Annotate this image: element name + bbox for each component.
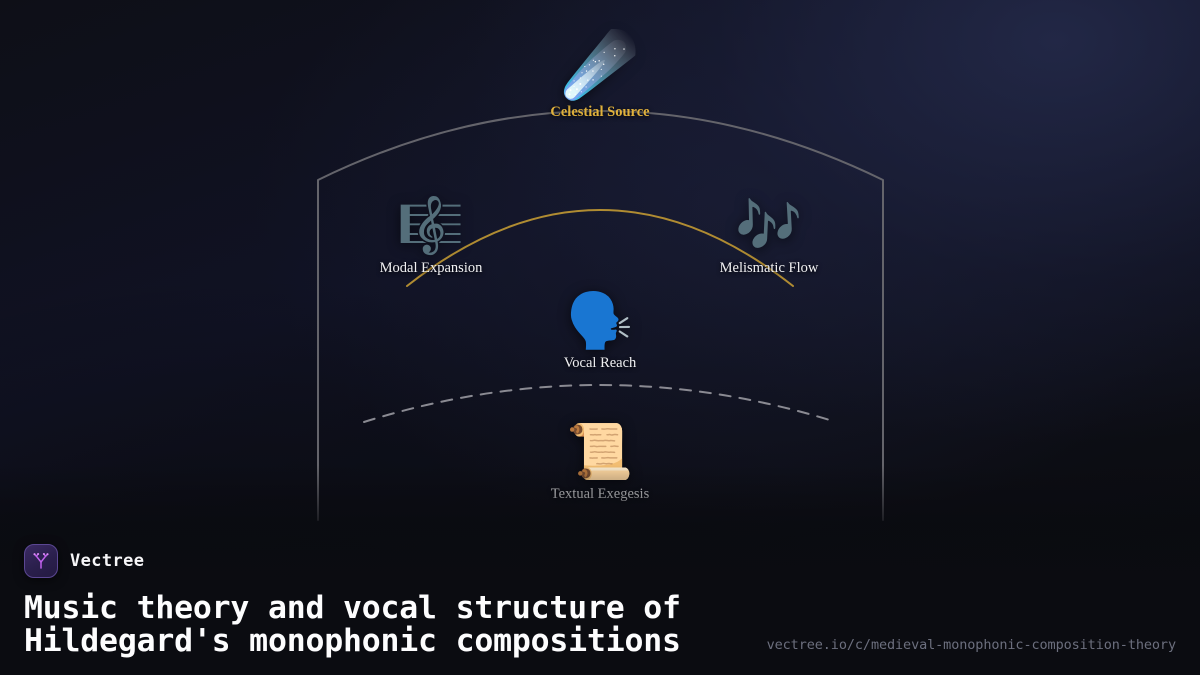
musical-score-icon: 🎼 <box>397 199 464 253</box>
share-card-canvas: ☄️ Celestial Source 🎼 Modal Expansion 🎶 … <box>0 0 1200 675</box>
vectree-tree-logo-icon <box>24 544 58 578</box>
graph-node-label: Textual Exegesis <box>551 486 649 503</box>
footer: Vectree Music theory and vocal structure… <box>24 544 1176 657</box>
graph-node-celestial-source[interactable]: ☄️ Celestial Source <box>550 35 649 121</box>
speaking-head-icon: 🗣️ <box>566 294 633 348</box>
musical-notes-icon: 🎶 <box>735 199 802 253</box>
graph-node-label: Vocal Reach <box>564 355 637 372</box>
graph-node-label: Celestial Source <box>550 104 649 121</box>
graph-node-vocal-reach[interactable]: 🗣️ Vocal Reach <box>564 294 637 372</box>
edge-dashed-arc <box>364 385 836 422</box>
scroll-icon: 📜 <box>566 425 633 479</box>
graph-node-label: Melismatic Flow <box>720 260 819 277</box>
comet-icon: ☄️ <box>561 35 638 97</box>
graph-node-melismatic-flow[interactable]: 🎶 Melismatic Flow <box>720 199 819 277</box>
page-title: Music theory and vocal structure of Hild… <box>24 592 784 657</box>
brand-lockup[interactable]: Vectree <box>24 544 1176 578</box>
graph-node-textual-exegesis[interactable]: 📜 Textual Exegesis <box>551 425 649 503</box>
graph-node-label: Modal Expansion <box>380 260 483 277</box>
graph-node-modal-expansion[interactable]: 🎼 Modal Expansion <box>380 199 483 277</box>
brand-name: Vectree <box>70 551 144 571</box>
share-url: vectree.io/c/medieval-monophonic-composi… <box>767 637 1176 653</box>
